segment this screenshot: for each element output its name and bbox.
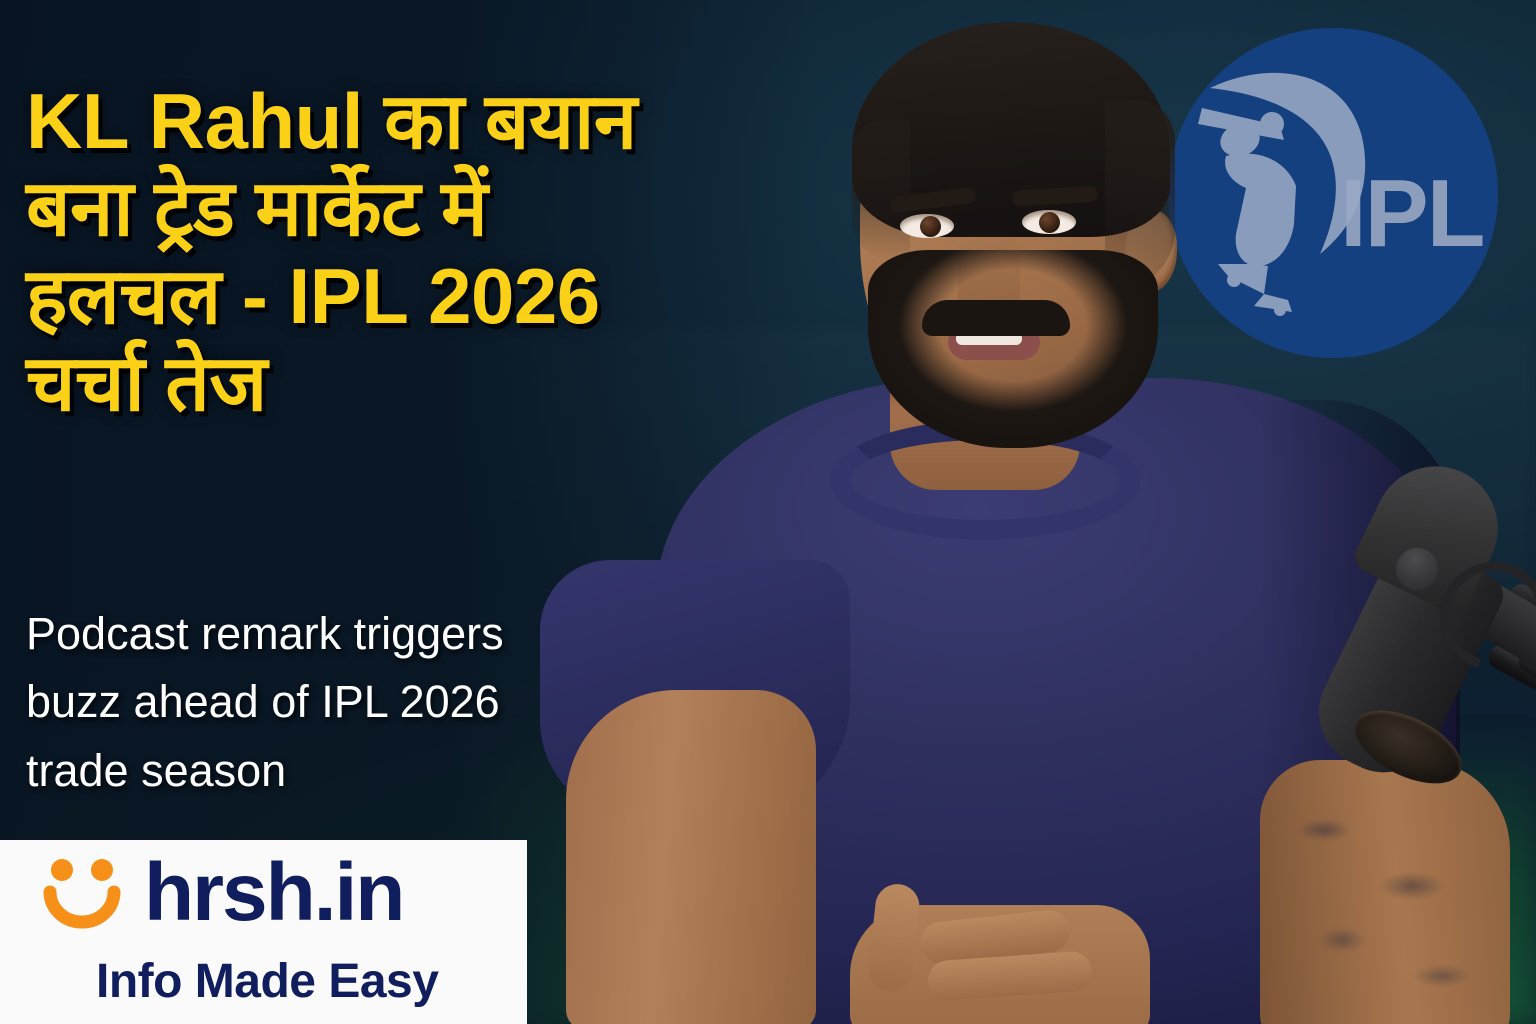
arm-tattoo: [1272, 790, 1496, 1020]
mustache: [922, 300, 1070, 336]
subtitle-line-1: Podcast remark triggers: [26, 600, 686, 668]
eye-right: [1022, 210, 1076, 234]
eye-left: [900, 214, 954, 238]
hair-fade-left: [852, 120, 910, 260]
headline-line-1: KL Rahul का बयान: [26, 78, 856, 165]
brand-tagline: Info Made Easy: [96, 958, 438, 1006]
subtitle: Podcast remark triggers buzz ahead of IP…: [26, 600, 686, 805]
headline-line-3: हलचल - IPL 2026: [26, 253, 856, 340]
brand-logo-row: hrsh.in: [36, 852, 403, 934]
thumbnail-canvas: IPL: [0, 0, 1536, 1024]
brand-wordmark: hrsh.in: [144, 852, 403, 934]
headline-line-4: चर्चा तेज: [26, 340, 856, 427]
subtitle-line-3: trade season: [26, 737, 686, 805]
subtitle-line-2: buzz ahead of IPL 2026: [26, 668, 686, 736]
brand-logo-bar: hrsh.in Info Made Easy: [0, 840, 527, 1024]
page-title: KL Rahul का बयान बना ट्रेड मार्केट में ह…: [26, 78, 856, 427]
xlr-cable: [1516, 651, 1536, 1002]
smiley-face-icon: [36, 854, 128, 932]
headline-line-2: बना ट्रेड मार्केट में: [26, 165, 856, 252]
